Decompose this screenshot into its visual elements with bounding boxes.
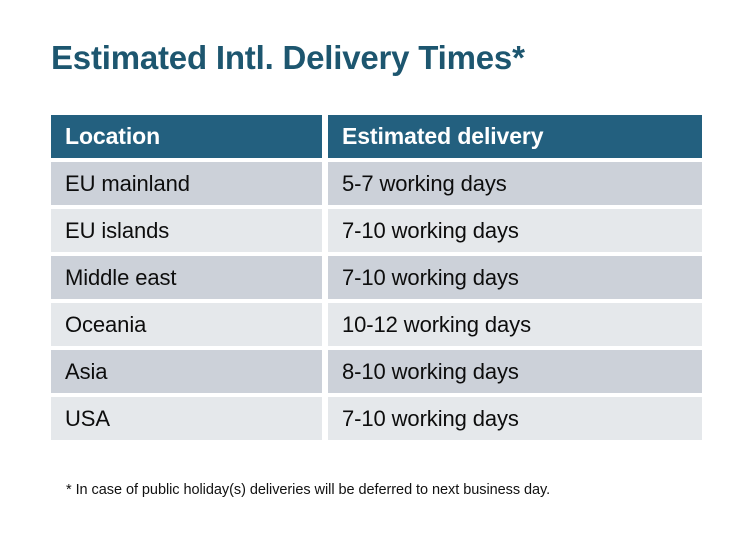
footnote-text: * In case of public holiday(s) deliverie… [66, 482, 550, 498]
cell-delivery: 5-7 working days [328, 162, 702, 205]
cell-location: Asia [51, 350, 322, 393]
cell-location: USA [51, 397, 322, 440]
cell-location: Oceania [51, 303, 322, 346]
table-row: Middle east 7-10 working days [51, 256, 702, 299]
page-title: Estimated Intl. Delivery Times* [51, 38, 525, 78]
cell-delivery: 8-10 working days [328, 350, 702, 393]
cell-location: Middle east [51, 256, 322, 299]
cell-delivery: 7-10 working days [328, 256, 702, 299]
table-row: EU islands 7-10 working days [51, 209, 702, 252]
table-row: EU mainland 5-7 working days [51, 162, 702, 205]
cell-delivery: 7-10 working days [328, 209, 702, 252]
table-body: EU mainland 5-7 working days EU islands … [51, 162, 702, 440]
cell-location: EU islands [51, 209, 322, 252]
table-header: Location Estimated delivery [51, 115, 702, 158]
cell-location: EU mainland [51, 162, 322, 205]
delivery-times-page: Estimated Intl. Delivery Times* Location… [0, 0, 745, 536]
cell-delivery: 10-12 working days [328, 303, 702, 346]
column-header-estimated-delivery: Estimated delivery [328, 115, 702, 158]
column-header-location: Location [51, 115, 322, 158]
table-header-row: Location Estimated delivery [51, 115, 702, 158]
cell-delivery: 7-10 working days [328, 397, 702, 440]
delivery-times-table: Location Estimated delivery EU mainland … [45, 111, 708, 444]
table-row: Oceania 10-12 working days [51, 303, 702, 346]
table-row: USA 7-10 working days [51, 397, 702, 440]
table-row: Asia 8-10 working days [51, 350, 702, 393]
